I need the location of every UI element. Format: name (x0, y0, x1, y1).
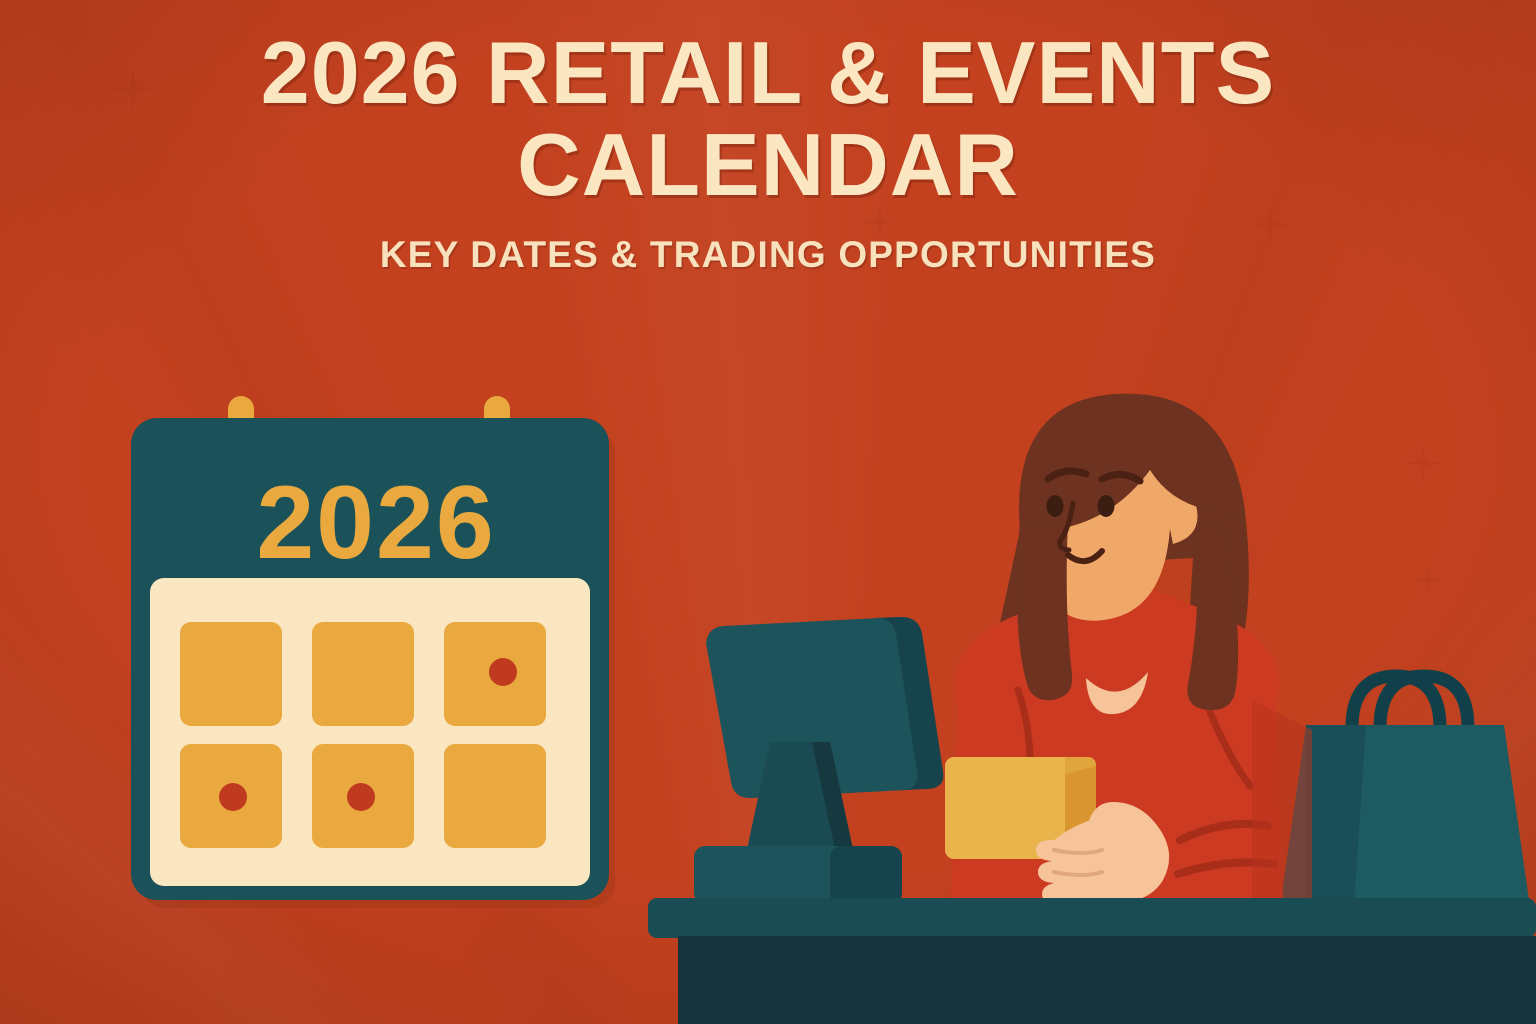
counter-body (678, 936, 1536, 1024)
calendar-event-dot (219, 783, 247, 811)
calendar-day-cell (444, 744, 546, 848)
calendar-year-label: 2026 (256, 465, 495, 581)
counter-top (648, 898, 1536, 938)
page-title-line-1: 2026 RETAIL & EVENTS (0, 30, 1536, 116)
calendar-event-dot (347, 783, 375, 811)
pos-terminal (694, 617, 943, 904)
pos-base-shadow (830, 846, 902, 904)
poster-canvas: 2026 RETAIL & EVENTS CALENDAR KEY DATES … (0, 0, 1536, 1024)
page-title-line-2: CALENDAR (0, 122, 1536, 208)
shopping-bag (1280, 676, 1530, 907)
page-subtitle: KEY DATES & TRADING OPPORTUNITIES (0, 234, 1536, 276)
calendar-day-cell (180, 622, 282, 726)
eye-right (1098, 495, 1115, 517)
wall-calendar: 2026 (131, 396, 615, 908)
checkout-counter (648, 898, 1536, 1024)
calendar-day-cell (312, 622, 414, 726)
eye-left (1047, 495, 1064, 517)
headline-block: 2026 RETAIL & EVENTS CALENDAR KEY DATES … (0, 30, 1536, 276)
calendar-event-dot (489, 658, 517, 686)
